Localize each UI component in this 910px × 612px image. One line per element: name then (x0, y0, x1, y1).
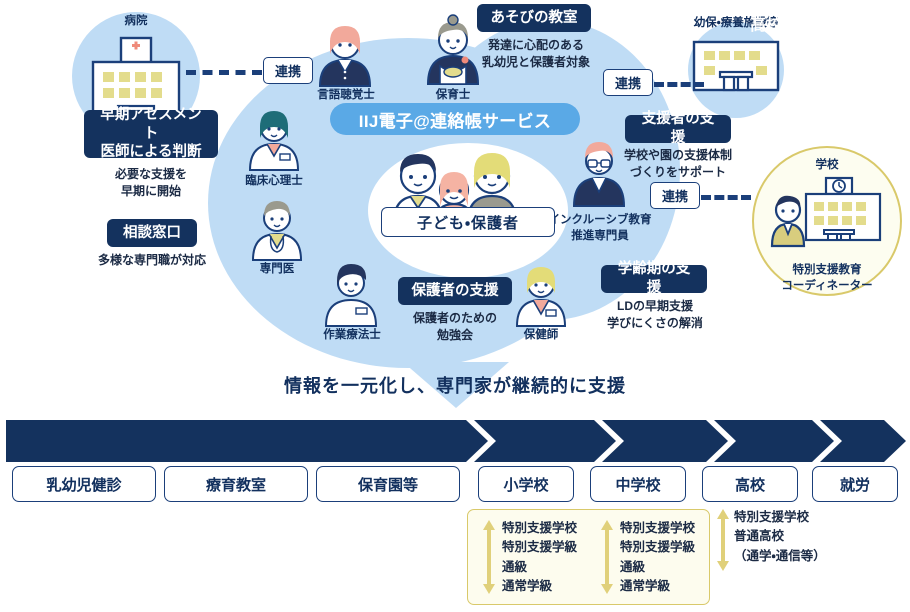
callout-guardian-support-body: 保護者のための 勉強会 (392, 310, 518, 345)
timeline-phase-2: 中学生 (606, 11, 720, 35)
options-elementary-text: 特別支援学校 特別支援学級 通級 通常学級 (502, 519, 598, 597)
stage-box-0[interactable]: 乳幼児健診 (12, 466, 156, 502)
timeline-phase-3: 高校生 (720, 11, 828, 35)
school-role-label: 特別支援教育 コーディネーター (752, 262, 902, 294)
diagram-canvas: 病院 連携 幼保・療養施設等 (0, 0, 910, 612)
school-icon (770, 176, 886, 260)
specialist-doctor-icon (249, 196, 305, 262)
callout-consultation-desk-badge: 相談窓口 (107, 219, 197, 247)
callout-play-classroom-body: 発達に心配のある 乳幼児と保護者対象 (466, 37, 606, 72)
occupational-therapist-label: 作業療法士 (310, 328, 394, 344)
callout-early-assessment-badge: 早期アセスメント 医師による判断 (84, 110, 218, 158)
family-caption: 子ども・保護者 (381, 207, 555, 237)
link-school-chip: 連携 (650, 182, 700, 209)
public-health-nurse-icon (512, 264, 570, 328)
options-junior-high-text: 特別支援学校 特別支援学級 通級 通常学級 (620, 519, 716, 597)
callout-supporter-support-badge: 支援者の支援 (625, 115, 731, 143)
up-down-arrow-icon-3 (716, 509, 730, 571)
callout-play-classroom-badge: あそびの教室 (477, 4, 591, 32)
stage-box-6[interactable]: 就労 (812, 466, 898, 502)
service-banner: IIJ電子@連絡帳サービス (330, 103, 580, 135)
callout-consultation-desk-body: 多様な専門職が対応 (72, 252, 232, 269)
callout-guardian-support-badge: 保護者の支援 (398, 277, 512, 305)
speech-therapist-label: 言語聴覚士 (306, 88, 386, 104)
callout-school-age-support-body: LDの早期支援 学びにくさの解消 (592, 298, 718, 333)
stage-box-1[interactable]: 療育教室 (164, 466, 308, 502)
clinical-psychologist-label: 臨床心理士 (232, 174, 316, 190)
connector-dash-school (701, 195, 751, 200)
connector-dash-facility (654, 82, 704, 87)
timeline-phase-0: 乳幼児期 (6, 11, 476, 35)
link-hospital-chip: 連携 (263, 57, 313, 84)
nursery-teacher-label: 保育士 (418, 88, 488, 104)
clinical-psychologist-icon (246, 108, 302, 172)
up-down-arrow-icon-1 (482, 520, 496, 594)
stage-box-4[interactable]: 中学校 (590, 466, 686, 502)
link-facility-chip: 連携 (603, 69, 653, 96)
connector-dash-hospital (186, 70, 262, 75)
stage-box-2[interactable]: 保育園等 (316, 466, 460, 502)
stage-box-3[interactable]: 小学校 (478, 466, 574, 502)
stage-box-5[interactable]: 高校 (702, 466, 798, 502)
school-label: 学校 (752, 158, 902, 174)
inclusive-education-officer-label: インクルーシブ教育 推進専門員 (540, 212, 660, 244)
options-high-school-text: 特別支援学校 普通高校 （通学・通信等） (734, 508, 874, 566)
callout-school-age-support-badge: 学齢期の支援 (601, 265, 707, 293)
timeline-chevron-bar (6, 420, 906, 462)
callout-supporter-support-body: 学校や園の支援体制 づくりをサポート (611, 147, 745, 182)
up-down-arrow-icon-2 (600, 520, 614, 594)
occupational-therapist-icon (322, 262, 380, 328)
callout-early-assessment-body: 必要な支援を 早期に開始 (78, 166, 224, 201)
center-sentence: 情報を一元化し、専門家が継続的に支援 (0, 372, 910, 398)
timeline-phase-4: 社会人 (826, 11, 906, 35)
specialist-doctor-label: 専門医 (244, 262, 310, 278)
